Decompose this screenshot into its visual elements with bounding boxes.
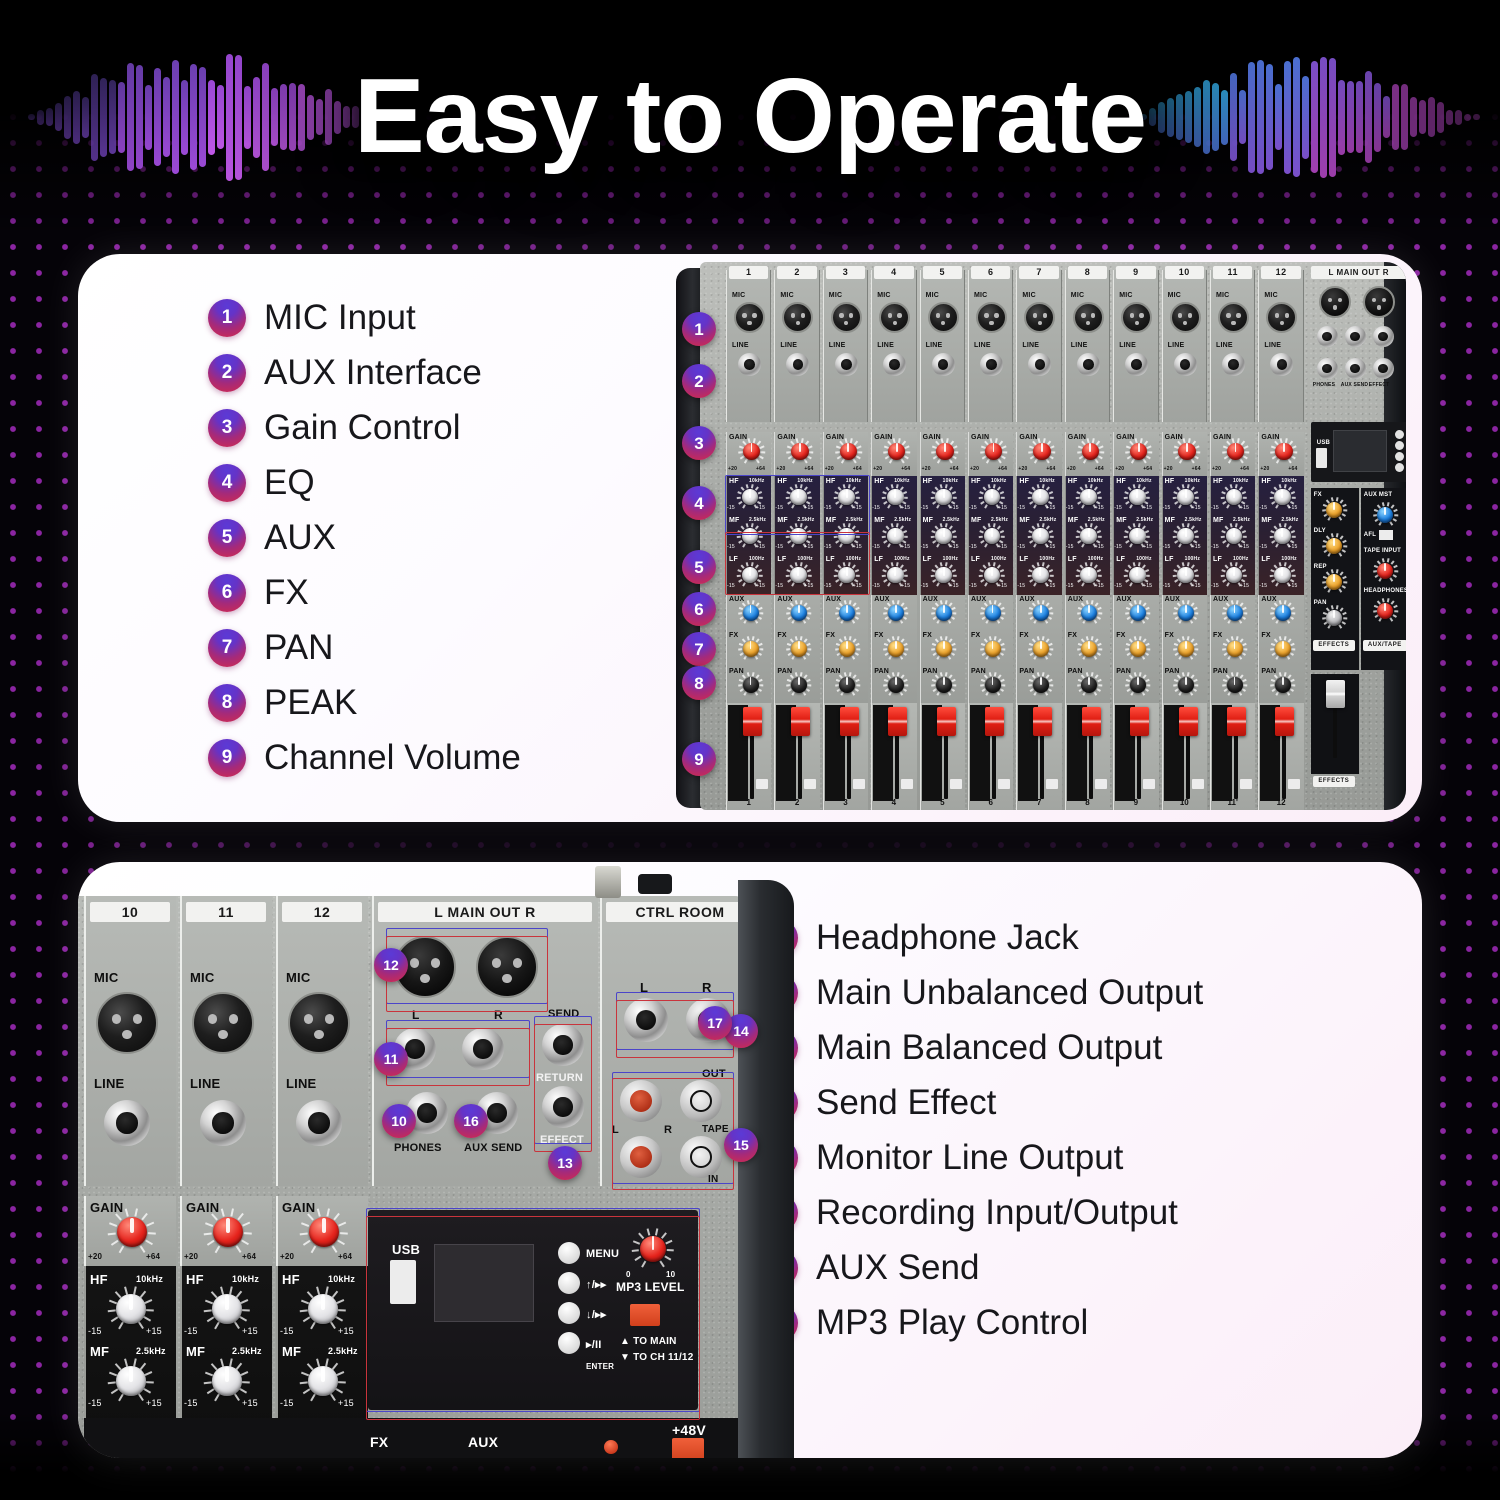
phantom-switch[interactable] [672,1438,704,1458]
panel-text: +64 [756,466,765,472]
xlr-mic-input[interactable] [976,302,1007,333]
mixer-top-view-image: 1MICLINE2MICLINE3MICLINE4MICLINE5MICLINE… [676,254,1422,822]
fader-number-2: 2 [776,798,817,807]
aux-knob [835,600,860,625]
mp3-button[interactable] [1395,452,1404,461]
callout-2: 2 [682,364,716,398]
panel-text: HF [1261,478,1271,485]
panel-text: MIC [926,292,939,299]
pfl-button[interactable] [1192,779,1204,789]
waveform-bar [1158,102,1165,133]
channel-fader[interactable] [791,707,810,736]
feature-row-6: 6FX [208,565,521,620]
panel-text: FX [1261,632,1270,639]
panel-text: -15 [280,1326,294,1336]
rear-xlr-mic-12[interactable] [288,992,350,1054]
panel-text: FX [971,632,980,639]
panel-text: +15 [1046,544,1055,550]
waveform-bar [37,110,44,125]
panel-text: PHONES [1313,382,1335,388]
main-out-xlr-r[interactable] [1363,286,1395,318]
waveform-bar [1419,100,1426,134]
mp3-button[interactable] [1395,463,1404,472]
panel-text: MF [186,1344,205,1359]
rear-channel-number-11: 11 [186,902,266,922]
panel-text: -15 [1211,544,1219,550]
pan-knob [738,672,763,697]
channel-fader[interactable] [1082,707,1101,736]
gain-knob [835,438,862,465]
mp3-button[interactable] [1395,430,1404,439]
fader-number-4: 4 [873,798,914,807]
pfl-button[interactable] [1046,779,1058,789]
waveform-bar [1392,84,1399,150]
line-input-jack[interactable] [1222,353,1245,376]
panel-text: LINE [1264,342,1281,349]
callout-17: 17 [698,1006,732,1040]
feature-row-14: 14Monitor Line Output [760,1130,1360,1185]
waveform-bar [1383,96,1390,138]
waveform-bar [226,54,233,181]
fx-knob [1174,636,1199,661]
usb-port-icon[interactable] [1316,448,1327,468]
master-jack-4[interactable] [1345,358,1366,379]
waveform-bar [235,55,242,180]
gain-knob [932,438,959,465]
panel-text: +20 [184,1252,198,1261]
panel-text: +64 [950,466,959,472]
feature-label-15: Recording Input/Output [816,1193,1178,1233]
panel-text: MIC [974,292,987,299]
panel-text: -15 [88,1326,102,1336]
waveform-bar [199,67,206,167]
fx-knob [835,636,860,661]
waveform-bar [1239,90,1246,144]
waveform-bar [1185,91,1192,143]
panel-text: LINE [1022,342,1039,349]
panel-text: FX [826,632,835,639]
chassis-screw [595,866,621,898]
line-input-jack[interactable] [932,353,955,376]
effects-fader-label: EFFECTS [1313,776,1355,787]
panel-text: -15 [1114,505,1122,511]
panel-text: -15 [1259,544,1267,550]
panel-text: +15 [1288,583,1297,589]
panel-text: 100Hz [1281,556,1296,562]
channel-fader[interactable] [1275,707,1294,736]
panel-text: HF [1213,478,1223,485]
main-out-xlr-l[interactable] [1319,286,1351,318]
waveform-bar [1428,97,1435,137]
line-input-jack[interactable] [738,353,761,376]
panel-text: +64 [1288,466,1297,472]
rear-xlr-mic-10[interactable] [96,992,158,1054]
feature-row-9: 9Channel Volume [208,730,521,785]
waveform-bar [1194,87,1201,147]
panel-text: MF [923,517,934,524]
waveform-bar [208,80,215,155]
channel-fader[interactable] [1179,707,1198,736]
pfl-button[interactable] [1143,779,1155,789]
feature-badge-1: 1 [208,299,246,337]
panel-text: MF [1019,517,1030,524]
eq-highlight-blue [725,475,870,535]
panel-text: 10kHz [1039,478,1054,484]
waveform-bar [1176,94,1183,140]
panel-text: LF [1116,556,1125,563]
panel-text: -15 [969,505,977,511]
panel-text: +48V [672,1422,706,1438]
feature-row-17: 17MP3 Play Control [760,1295,1360,1350]
mp3-highlight2 [366,1216,700,1420]
master-jack-5[interactable] [1373,358,1394,379]
feature-row-16: 16AUX Send [760,1240,1360,1295]
rear-line-jack-10[interactable] [104,1100,150,1146]
waveform-bar [253,77,260,158]
panel-text: +64 [146,1252,160,1261]
panel-text: +15 [338,1398,354,1408]
mixer-rear-view-image: 10MICLINE11MICLINE12MICLINEL MAIN OUT RC… [78,862,794,1458]
panel-text: PAN [826,668,841,675]
panel-text: -15 [184,1326,198,1336]
panel-text: 10kHz [136,1274,163,1284]
panel-text: 10kHz [232,1274,259,1284]
channel-fader[interactable] [888,707,907,736]
panel-text: 2.5kHz [328,1346,358,1356]
callout-7: 7 [682,632,716,666]
pfl-button[interactable] [1288,779,1300,789]
waveform-bar [55,103,62,131]
gain-knob [980,438,1007,465]
panel-text: +20 [728,466,737,472]
waveform-bar [73,91,80,144]
callout-3: 3 [682,426,716,460]
mp3-button[interactable] [1395,441,1404,450]
panel-text: MIC [1216,292,1229,299]
panel-text: MIC [94,970,118,985]
rear-gain-knob-2 [300,1208,348,1256]
mp3-display [1333,430,1387,472]
panel-text: +20 [1212,466,1221,472]
top-feature-card: 1MIC Input2AUX Interface3Gain Control4EQ… [78,254,1422,822]
channel-number-8: 8 [1068,266,1107,279]
panel-text: +15 [242,1398,258,1408]
panel-text: FX [1116,632,1125,639]
fx-knob [1222,636,1247,661]
panel-text: -15 [872,583,880,589]
panel-text: MIC [829,292,842,299]
feature-label-14: Monitor Line Output [816,1138,1123,1178]
waveform-bar [1338,80,1345,155]
pan-knob [1174,672,1199,697]
feature-label-17: MP3 Play Control [816,1303,1088,1343]
waveform-bar [271,88,278,146]
panel-text: PAN [1314,600,1327,606]
panel-text: +15 [1143,583,1152,589]
phantom-led [604,1440,618,1454]
panel-text: MIC [780,292,793,299]
gain-knob [1174,438,1201,465]
pfl-button[interactable] [853,779,865,789]
master-rep-knob [1322,569,1347,594]
balanced-out-highlight2 [386,936,548,1012]
line-input-jack[interactable] [980,353,1003,376]
xlr-mic-input[interactable] [928,302,959,333]
master-fader[interactable] [1326,680,1345,708]
callout-15: 15 [724,1128,758,1162]
waveform-bar [1257,60,1264,174]
waveform-bar [82,97,89,138]
xlr-mic-input[interactable] [879,302,910,333]
xlr-mic-input[interactable] [1170,302,1201,333]
waveform-bar [1203,80,1210,154]
master-jack-0[interactable] [1317,326,1338,347]
panel-text: +15 [146,1326,162,1336]
waveform-bar [163,77,170,157]
gain-knob [1222,438,1249,465]
panel-text: HF [1165,478,1175,485]
rear-channel-number-10: 10 [90,902,170,922]
panel-text: EFFECT [1369,382,1390,388]
panel-text: LINE [1119,342,1136,349]
panel-text: -15 [1114,583,1122,589]
waveform-left-icon [28,42,386,192]
rear-xlr-mic-11[interactable] [192,992,254,1054]
panel-text: +20 [1018,466,1027,472]
panel-text: FX [729,632,738,639]
bottom-control-row [84,1418,744,1458]
panel-text: LINE [829,342,846,349]
channel-number-12: 12 [1261,266,1300,279]
panel-text: -15 [1163,583,1171,589]
panel-text: +15 [1240,583,1249,589]
feature-label-10: Headphone Jack [816,918,1079,958]
panel-text: MF [1165,517,1176,524]
panel-text: MIC [1022,292,1035,299]
panel-text: +15 [950,583,959,589]
rear-line-jack-11[interactable] [200,1100,246,1146]
xlr-mic-input[interactable] [734,302,765,333]
panel-text: AUX [468,1434,498,1450]
waveform-bar [1149,108,1156,126]
feature-row-13: 13Send Effect [760,1075,1360,1130]
panel-text: MIC [877,292,890,299]
callout-1: 1 [682,312,716,346]
gain-knob [1077,438,1104,465]
panel-text: MIC [190,970,214,985]
panel-text: +15 [901,505,910,511]
panel-text: -15 [1211,583,1219,589]
panel-text: LF [923,556,932,563]
panel-text: LINE [926,342,943,349]
panel-text: +15 [1095,544,1104,550]
panel-text: LF [1261,556,1270,563]
panel-text: +15 [950,505,959,511]
xlr-mic-input[interactable] [1073,302,1104,333]
fx-knob [738,636,763,661]
panel-text: HF [923,478,933,485]
panel-text: +15 [338,1326,354,1336]
panel-text: +15 [1192,544,1201,550]
panel-text: MF [1068,517,1079,524]
afl-button[interactable] [1379,530,1393,540]
panel-text: -15 [1066,583,1074,589]
tape-input-knob [1373,558,1398,583]
feature-badge-9: 9 [208,739,246,777]
master-dly-knob [1322,533,1347,558]
panel-text: HF [186,1272,204,1287]
panel-text: +64 [1240,466,1249,472]
channel-fader[interactable] [937,707,956,736]
panel-text: PHONES [394,1142,442,1154]
panel-text: -15 [280,1398,294,1408]
fader-number-12: 12 [1260,798,1301,807]
fader-number-6: 6 [970,798,1011,807]
fader-number-9: 9 [1115,798,1156,807]
panel-text: -15 [1114,544,1122,550]
pfl-button[interactable] [901,779,913,789]
channel-fader[interactable] [1130,707,1149,736]
feature-row-3: 3Gain Control [208,400,521,455]
fader-number-8: 8 [1067,798,1108,807]
panel-text: MF [1116,517,1127,524]
panel-text: HF [1116,478,1126,485]
pfl-button[interactable] [756,779,768,789]
xlr-mic-input[interactable] [1218,302,1249,333]
xlr-mic-input[interactable] [1121,302,1152,333]
waveform-bar [325,89,332,145]
channel-number-1: 1 [729,266,768,279]
channel-fader[interactable] [743,707,762,736]
line-input-jack[interactable] [1174,353,1197,376]
aux-knob [1222,600,1247,625]
waveform-bar [1230,73,1237,161]
feature-label-3: Gain Control [264,408,460,448]
panel-text: +20 [1260,466,1269,472]
panel-text: MF [1213,517,1224,524]
channel-number-6: 6 [971,266,1010,279]
feature-row-11: 11Main Unbalanced Output [760,965,1360,1020]
panel-text: +15 [998,583,1007,589]
panel-text: -15 [1259,505,1267,511]
waveform-bar [181,80,188,155]
callout-9: 9 [682,742,716,776]
panel-text: FX [1165,632,1174,639]
panel-text: LINE [190,1076,220,1091]
aux-knob [738,600,763,625]
fx-knob [932,636,957,661]
panel-text: LF [874,556,883,563]
panel-text: +15 [998,505,1007,511]
master-fx-knob [1322,497,1347,522]
waveform-bar [1167,98,1174,137]
pfl-button[interactable] [998,779,1010,789]
panel-text: LINE [286,1076,316,1091]
panel-text: +20 [776,466,785,472]
feature-row-8: 8PEAK [208,675,521,730]
waveform-bar [1329,58,1336,177]
panel-text: +64 [1192,466,1201,472]
panel-text: HF [90,1272,108,1287]
panel-text: -15 [872,544,880,550]
callout-4: 4 [682,486,716,520]
feature-row-15: 15Recording Input/Output [760,1185,1360,1240]
channel-number-5: 5 [923,266,962,279]
fx-knob [980,636,1005,661]
rca-highlight2 [612,1078,734,1190]
callout-16: 16 [454,1104,488,1138]
pfl-button[interactable] [1095,779,1107,789]
waveform-bar [1212,83,1219,151]
feature-label-4: EQ [264,463,315,503]
gain-knob [883,438,910,465]
channel-number-4: 4 [874,266,913,279]
waveform-right-icon [1140,42,1480,192]
effects-label: EFFECTS [1313,640,1355,651]
waveform-bar [136,65,143,169]
fader-number-10: 10 [1164,798,1205,807]
panel-text: -15 [969,544,977,550]
channel-number-3: 3 [826,266,865,279]
master-jack-2[interactable] [1373,326,1394,347]
panel-text: LINE [1168,342,1185,349]
fader-number-5: 5 [922,798,963,807]
channel-number-11: 11 [1213,266,1252,279]
waveform-bar [118,82,125,153]
rear-gain-knob-1 [204,1208,252,1256]
channel-fader[interactable] [840,707,859,736]
panel-text: +64 [1143,466,1152,472]
fader-number-1: 1 [728,798,769,807]
panel-text: MIC [1119,292,1132,299]
master-jack-3[interactable] [1317,358,1338,379]
main-out-label: L MAIN OUT R [1311,266,1406,279]
panel-text: +15 [998,544,1007,550]
chassis-switch [638,874,672,894]
waveform-bar [91,74,98,161]
panel-text: +15 [1288,544,1297,550]
rear-gain-knob-0 [108,1208,156,1256]
panel-text: +15 [1192,583,1201,589]
pfl-button[interactable] [804,779,816,789]
master-jack-1[interactable] [1345,326,1366,347]
main-out-label: L MAIN OUT R [378,902,592,922]
channel-fader[interactable] [1033,707,1052,736]
panel-text: +15 [1192,505,1201,511]
line-input-jack[interactable] [835,353,858,376]
panel-text: AUX MST [1364,492,1392,498]
feature-label-11: Main Unbalanced Output [816,973,1203,1013]
panel-text: HF [282,1272,300,1287]
channel-fader[interactable] [985,707,1004,736]
channel-fader[interactable] [1227,707,1246,736]
pfl-button[interactable] [1240,779,1252,789]
panel-text: 100Hz [1039,556,1054,562]
waveform-bar [298,84,305,151]
feature-label-6: FX [264,573,309,613]
panel-text: FX [370,1434,388,1450]
pfl-button[interactable] [950,779,962,789]
panel-text: -15 [921,505,929,511]
waveform-bar [1320,57,1327,178]
panel-text: +15 [1095,583,1104,589]
rear-line-jack-12[interactable] [296,1100,342,1146]
xlr-mic-input[interactable] [831,302,862,333]
line-input-jack[interactable] [1077,353,1100,376]
panel-text: +64 [804,466,813,472]
panel-text: MF [971,517,982,524]
feature-badge-6: 6 [208,574,246,612]
